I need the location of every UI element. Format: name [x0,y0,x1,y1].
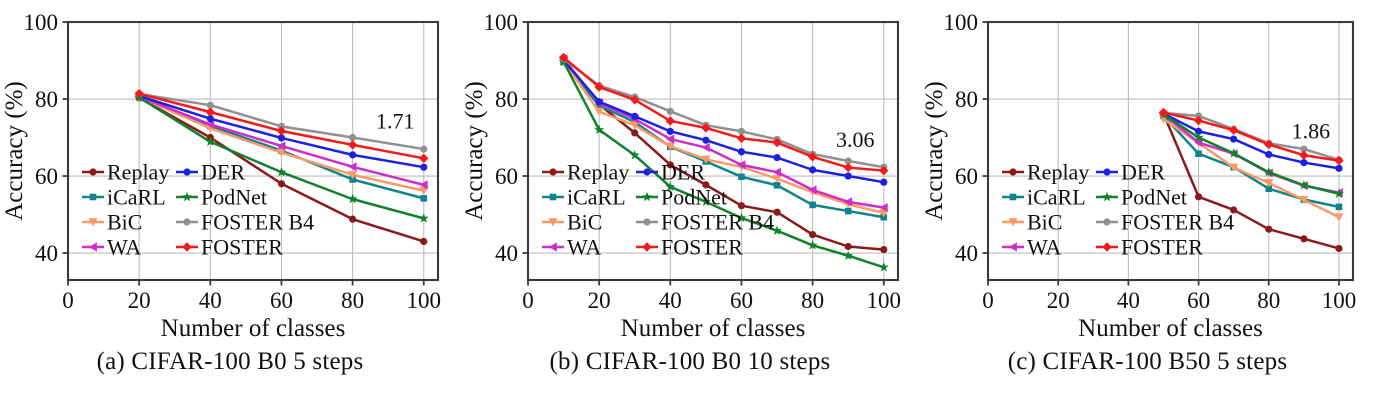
data-point-marker [845,243,852,250]
data-point-marker [631,129,638,136]
data-point-marker [631,113,638,120]
data-point-marker [1103,218,1110,225]
legend-item-bic: BiC [1002,210,1062,235]
data-point-marker [596,98,603,105]
x-tick-label: 100 [407,288,442,313]
legend-item-der: DER [636,160,705,185]
y-tick-label: 100 [944,10,979,35]
data-point-marker [1195,193,1202,200]
legend-label: PodNet [661,185,727,210]
data-point-marker [809,231,816,238]
y-tick-label: 60 [35,164,58,189]
gain-annotation: 1.86 [1292,118,1331,143]
data-point-marker [843,163,852,172]
panel-c: ReplayiCaRLBiCWADERPodNetFOSTER B4FOSTER… [920,0,1375,409]
data-point-marker [1265,151,1272,158]
x-tick-label: 20 [128,288,151,313]
data-point-marker [843,251,853,260]
data-point-marker [738,148,745,155]
data-point-marker [773,154,780,161]
data-point-marker [738,174,745,181]
gain-annotation: 3.06 [836,127,875,152]
legend-item-foster: FOSTER [1096,235,1203,260]
gain-annotation: 1.71 [376,109,415,134]
data-point-marker [1103,168,1110,175]
data-point-marker [1335,245,1342,252]
legend-label: Replay [107,160,169,185]
legend-item-foster-b4: FOSTER B4 [1096,210,1234,235]
data-point-marker [349,216,356,223]
x-tick-label: 40 [659,288,682,313]
chart-c: ReplayiCaRLBiCWADERPodNetFOSTER B4FOSTER… [920,0,1375,340]
data-point-marker [1230,135,1237,142]
x-tick-label: 80 [341,288,364,313]
legend-label: Replay [1027,160,1089,185]
data-point-marker [845,208,852,215]
legend-label: WA [107,235,141,260]
legend-item-wa: WA [542,235,601,260]
legend-label: BiC [567,210,602,235]
x-tick-label: 20 [588,288,611,313]
data-point-marker [549,242,557,251]
x-tick-label: 60 [730,288,753,313]
data-point-marker [1334,156,1343,165]
x-tick-label: 40 [199,288,222,313]
legend-item-icarl: iCaRL [542,185,626,210]
x-tick-label: 40 [1117,288,1140,313]
x-tick-label: 60 [270,288,293,313]
panel-c-caption: (c) CIFAR-100 B50 5 steps [920,348,1375,376]
y-axis-label: Accuracy (%) [1,81,28,221]
legend-item-replay: Replay [1002,160,1089,185]
legend-label: FOSTER B4 [1121,210,1234,235]
legend-item-foster-b4: FOSTER B4 [636,210,774,235]
data-point-marker [1335,165,1342,172]
data-point-marker [1102,192,1112,201]
legend-item-podnet: PodNet [176,185,267,210]
legend-item-foster-b4: FOSTER B4 [176,210,314,235]
legend-label: FOSTER B4 [201,210,314,235]
x-tick-label: 80 [1257,288,1280,313]
data-point-marker [702,143,710,152]
x-tick-label: 100 [867,288,902,313]
legend-label: FOSTER [201,235,283,260]
y-tick-label: 60 [495,164,518,189]
legend-item-replay: Replay [82,160,169,185]
x-tick-label: 60 [1187,288,1210,313]
data-point-marker [642,242,651,251]
data-point-marker [809,202,816,209]
legend-label: PodNet [201,185,267,210]
data-point-marker [90,194,97,201]
x-tick-label: 0 [982,288,994,313]
legend-item-podnet: PodNet [636,185,727,210]
legend-label: DER [201,160,245,185]
y-tick-label: 40 [35,241,58,266]
legend-label: DER [1121,160,1165,185]
legend-item-der: DER [176,160,245,185]
data-point-marker [183,218,190,225]
data-point-marker [1009,242,1017,251]
data-point-marker [206,107,215,116]
data-point-marker [667,128,674,135]
legend-label: FOSTER B4 [661,210,774,235]
data-point-marker [89,242,97,251]
data-point-marker [809,166,816,173]
data-point-marker [1102,242,1111,251]
data-point-marker [1010,194,1017,201]
legend-label: FOSTER [661,235,743,260]
data-point-marker [550,194,557,201]
y-tick-label: 80 [955,87,978,112]
data-point-marker [845,172,852,179]
data-point-marker [880,179,887,186]
data-point-marker [89,168,96,175]
legend-item-wa: WA [1002,235,1061,260]
legend-label: DER [661,160,705,185]
legend-label: WA [1027,235,1061,260]
data-point-marker [1195,150,1202,157]
legend-label: WA [567,235,601,260]
data-point-marker [1265,226,1272,233]
panel-a: ReplayiCaRLBiCWADERPodNetFOSTER B4FOSTER… [0,0,460,409]
data-point-marker [667,108,674,115]
legend-item-podnet: PodNet [1096,185,1187,210]
x-tick-label: 80 [801,288,824,313]
legend-item-icarl: iCaRL [1002,185,1086,210]
data-point-marker [183,168,190,175]
data-point-marker [738,202,745,209]
data-point-marker [1336,204,1343,211]
y-tick-label: 100 [484,10,519,35]
data-point-marker [1334,213,1343,221]
data-point-marker [278,180,285,187]
x-axis-label: Number of classes [1078,315,1263,340]
x-tick-label: 100 [1322,288,1357,313]
y-tick-label: 40 [495,241,518,266]
data-point-marker [1300,159,1307,166]
panel-b: ReplayiCaRLBiCWADERPodNetFOSTER B4FOSTER… [460,0,920,409]
panel-b-caption: (b) CIFAR-100 B0 10 steps [460,348,920,376]
legend-label: FOSTER [1121,235,1203,260]
y-tick-label: 80 [35,87,58,112]
x-axis-label: Number of classes [161,315,346,340]
y-axis-label: Accuracy (%) [921,81,948,221]
x-tick-label: 0 [62,288,74,313]
data-point-marker [880,246,887,253]
x-tick-label: 20 [1047,288,1070,313]
x-tick-label: 0 [522,288,534,313]
data-point-marker [348,140,357,149]
chart-b: ReplayiCaRLBiCWADERPodNetFOSTER B4FOSTER… [460,0,920,340]
y-tick-label: 80 [495,87,518,112]
legend-label: iCaRL [1027,185,1086,210]
legend-item-bic: BiC [82,210,142,235]
data-point-marker [737,134,746,143]
data-point-marker [1299,151,1308,160]
legend-label: PodNet [1121,185,1187,210]
data-point-marker [182,192,192,201]
legend-item-icarl: iCaRL [82,185,166,210]
legend-label: iCaRL [567,185,626,210]
legend-label: Replay [567,160,629,185]
legend-item-bic: BiC [542,210,602,235]
data-point-marker [1300,235,1307,242]
panel-a-caption: (a) CIFAR-100 B0 5 steps [0,348,460,376]
legend-item-foster: FOSTER [636,235,743,260]
data-point-marker [420,238,427,245]
data-point-marker [349,151,356,158]
legend-item-replay: Replay [542,160,629,185]
y-tick-label: 40 [955,241,978,266]
figure-cifar100-benchmarks: ReplayiCaRLBiCWADERPodNetFOSTER B4FOSTER… [0,0,1375,409]
data-point-marker [549,168,556,175]
data-point-marker [420,145,427,152]
y-tick-label: 100 [24,10,59,35]
data-point-marker [702,137,709,144]
data-point-marker [1009,168,1016,175]
y-tick-label: 60 [955,164,978,189]
data-point-marker [773,209,780,216]
data-point-marker [642,192,652,201]
legend-label: BiC [107,210,142,235]
y-axis-label: Accuracy (%) [461,81,488,221]
data-point-marker [420,195,427,202]
data-point-marker [419,154,428,163]
data-point-marker [643,168,650,175]
data-point-marker [420,164,427,171]
data-point-marker [182,242,191,251]
legend-label: iCaRL [107,185,166,210]
legend-item-wa: WA [82,235,141,260]
data-point-marker [349,134,356,141]
legend-label: BiC [1027,210,1062,235]
legend: ReplayiCaRLBiCWADERPodNetFOSTER B4FOSTER [1002,160,1234,260]
x-axis-label: Number of classes [621,315,806,340]
legend-item-der: DER [1096,160,1165,185]
legend-item-foster: FOSTER [176,235,283,260]
chart-a: ReplayiCaRLBiCWADERPodNetFOSTER B4FOSTER… [0,0,460,340]
data-point-marker [643,218,650,225]
